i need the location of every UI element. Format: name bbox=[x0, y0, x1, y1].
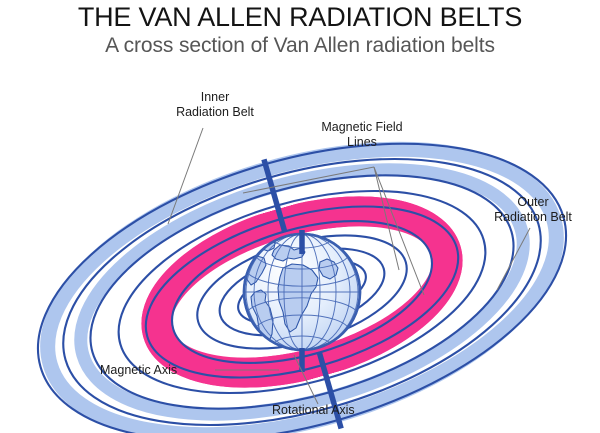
illustration-canvas: THE VAN ALLEN RADIATION BELTS A cross se… bbox=[0, 0, 600, 433]
label-magnetic-axis: Magnetic Axis bbox=[100, 363, 210, 378]
label-inner-radiation-belt: Inner Radiation Belt bbox=[145, 90, 285, 119]
label-outer-radiation-belt: Outer Radiation Belt bbox=[472, 195, 594, 224]
label-magnetic-field-lines: Magnetic Field Lines bbox=[298, 120, 426, 149]
label-rotational-axis: Rotational Axis bbox=[272, 403, 402, 418]
